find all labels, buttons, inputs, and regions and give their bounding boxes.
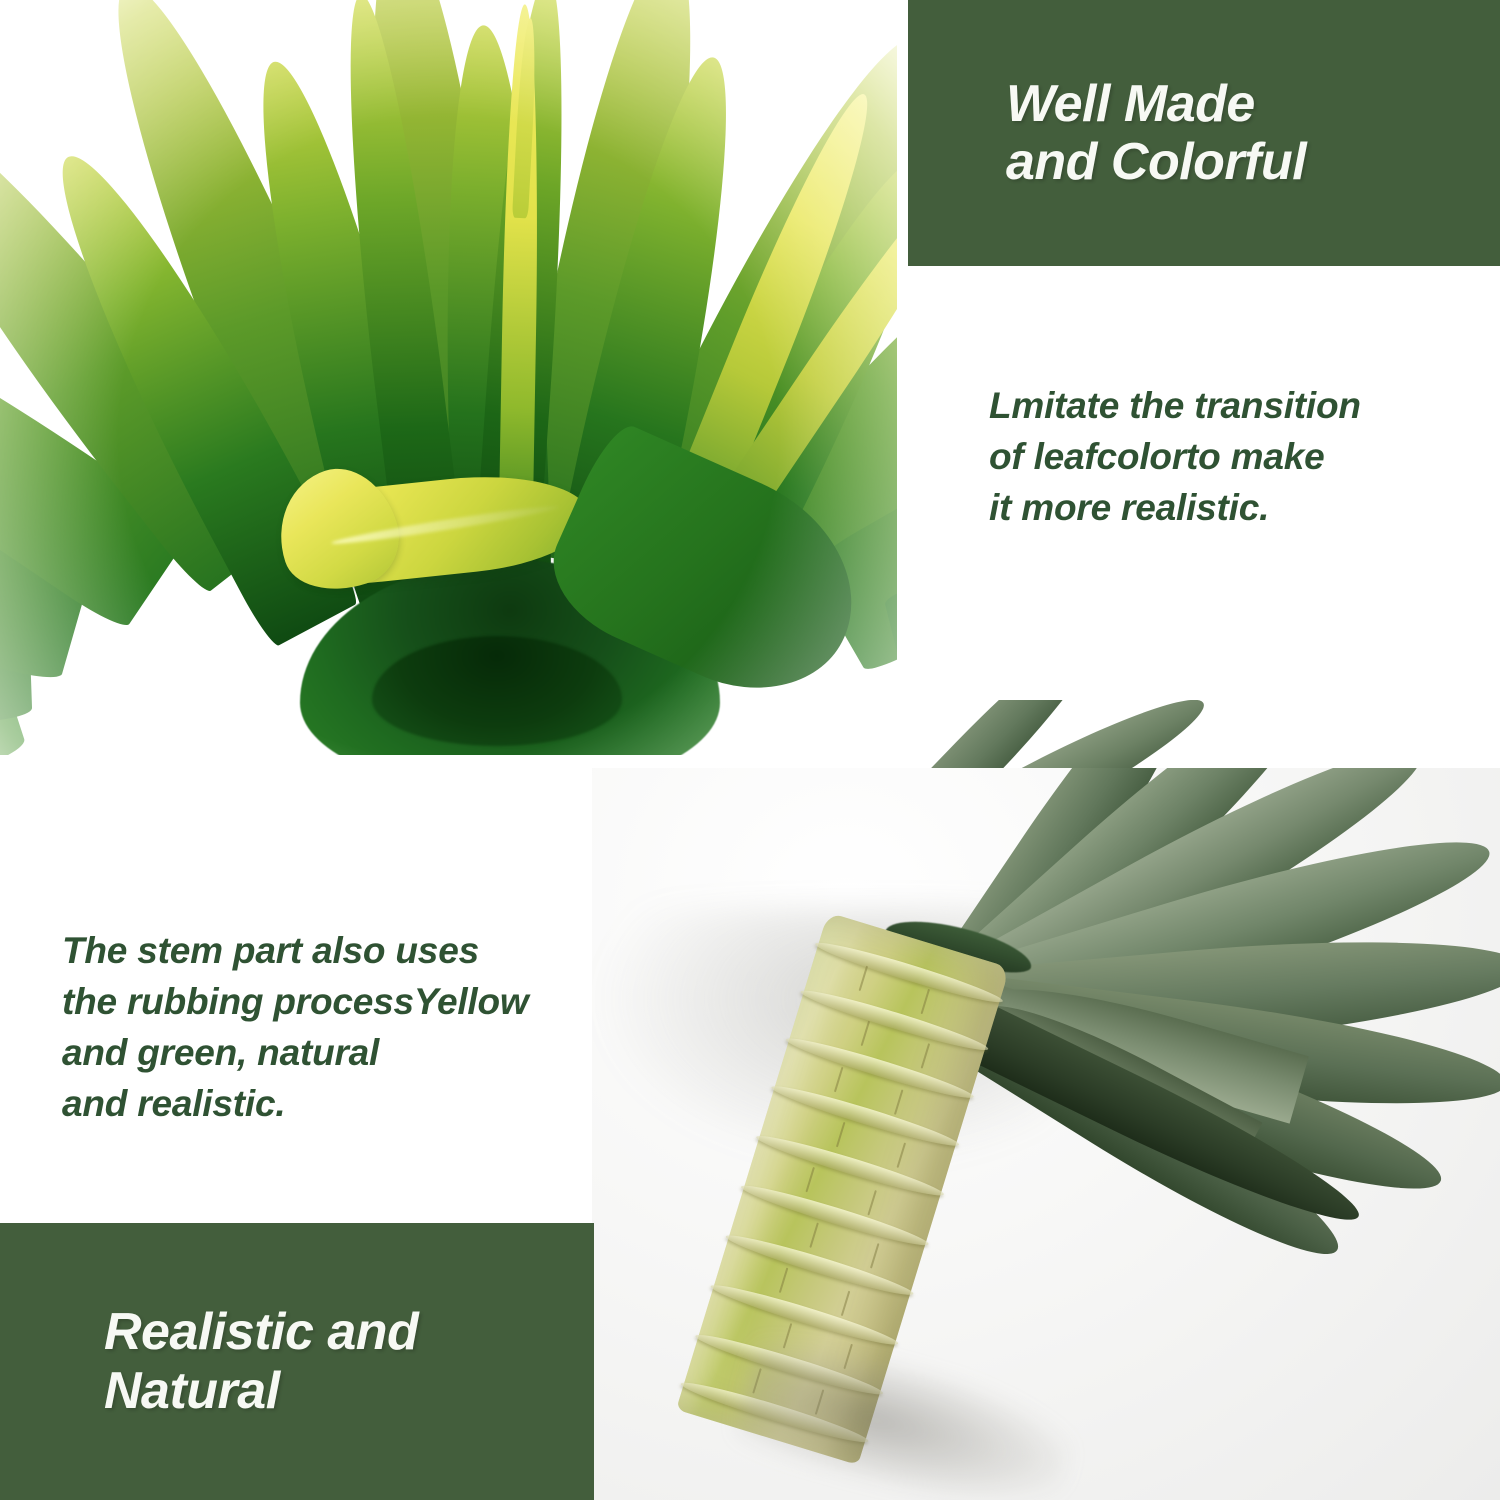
agave-rosette-composition: [0, 0, 897, 755]
agave-leaf-front: [819, 751, 897, 755]
banner-title-bottom: Realistic and Natural: [104, 1303, 418, 1419]
stem-cast-shadow: [732, 1330, 1081, 1500]
banner-title-top: Well Made and Colorful: [1006, 75, 1306, 191]
photo-agave-rosette-closeup: [0, 0, 897, 755]
infographic-canvas: Well Made and Colorful Realistic and Nat…: [0, 0, 1500, 1500]
banner-realistic-and-natural: Realistic and Natural: [0, 1223, 594, 1500]
text-stem-rubbing-process: The stem part also uses the rubbing proc…: [62, 925, 602, 1129]
banner-well-made-and-colorful: Well Made and Colorful: [908, 0, 1500, 266]
photo-agave-stem-detail: [592, 768, 1500, 1500]
text-leaf-color-transition: Lmitate the transition of leafcolorto ma…: [989, 380, 1469, 533]
